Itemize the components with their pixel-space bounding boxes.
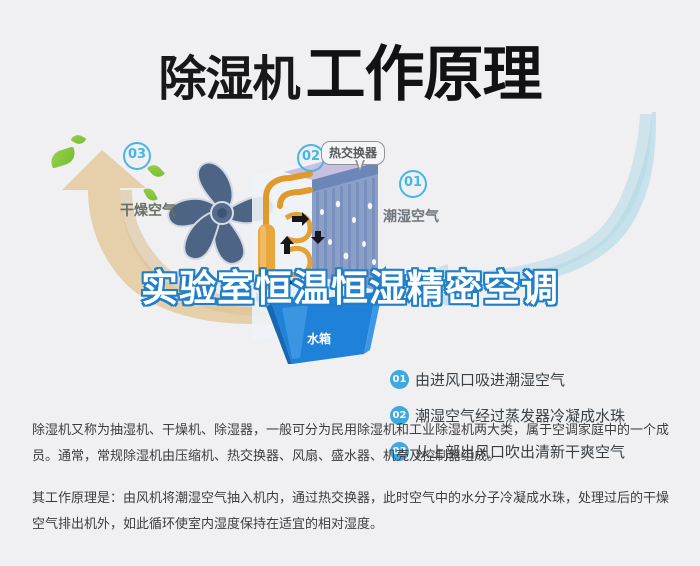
label-water-tank: 水箱: [307, 330, 331, 347]
list-item: 01 由进风口吸进潮湿空气: [390, 361, 690, 397]
page-title-part1: 除湿机: [158, 51, 299, 107]
diagram-badge-humid-air: 01: [399, 170, 427, 198]
watermark-title-text: 实验室恒温恒湿精密空调: [141, 267, 559, 310]
watermark-title: 实验室恒温恒湿精密空调: [0, 258, 700, 312]
heat-exchanger-callout: 热交换器: [321, 141, 385, 165]
step-text: 由进风口吸进潮湿空气: [415, 369, 565, 390]
body-paragraph-2: 其工作原理是：由风机将潮湿空气抽入机内，通过热交换器，此时空气中的水分子冷凝成水…: [32, 486, 672, 538]
callout-pointer-icon: [355, 160, 365, 172]
dehumidifier-diagram: 03 02 01 热交换器 干燥空气 潮湿空气 水箱 01 由进风口吸进潮湿空气…: [0, 118, 700, 388]
body-copy: 除湿机又称为抽湿机、干燥机、除湿器，一般可分为民用除湿机和工业除湿机两大类，属于…: [32, 418, 672, 538]
infographic-root: 除湿机工作原理: [0, 0, 700, 566]
label-dry-air: 干燥空气: [120, 200, 176, 220]
step-number: 01: [390, 370, 409, 389]
page-title-part2: 工作原理: [306, 40, 542, 110]
page-title: 除湿机工作原理: [0, 26, 700, 113]
diagram-badge-dry-air: 03: [123, 142, 151, 170]
label-humid-air: 潮湿空气: [383, 206, 439, 226]
body-paragraph-1: 除湿机又称为抽湿机、干燥机、除湿器，一般可分为民用除湿机和工业除湿机两大类，属于…: [32, 418, 672, 470]
